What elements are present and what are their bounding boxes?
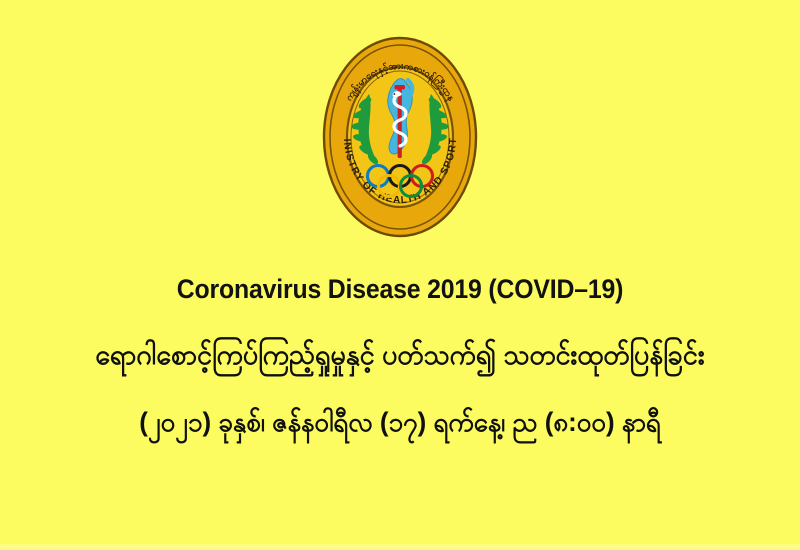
page-title-english: Coronavirus Disease 2019 (COVID–19) [45,272,755,306]
bottom-edge-strip [0,544,800,550]
ministry-seal-logo: ကျန်းမာရေးနှင့်အားကစားဝန်ကြီးဌာန MINISTR… [322,36,478,238]
announcement-datetime-burmese: (၂၀၂၁) ခုနှစ်၊ ဇန်နဝါရီလ (၁၇) ရက်နေ့၊ ည … [29,400,770,444]
page-subtitle-burmese: ရောဂါစောင့်ကြပ်ကြည့်ရှုမှုနှင့် ပတ်သက်၍ … [29,332,770,378]
announcement-slide: ကျန်းမာရေးနှင့်အားကစားဝန်ကြီးဌာန MINISTR… [0,0,800,550]
announcement-text-block: Coronavirus Disease 2019 (COVID–19) ရောဂ… [0,272,800,444]
